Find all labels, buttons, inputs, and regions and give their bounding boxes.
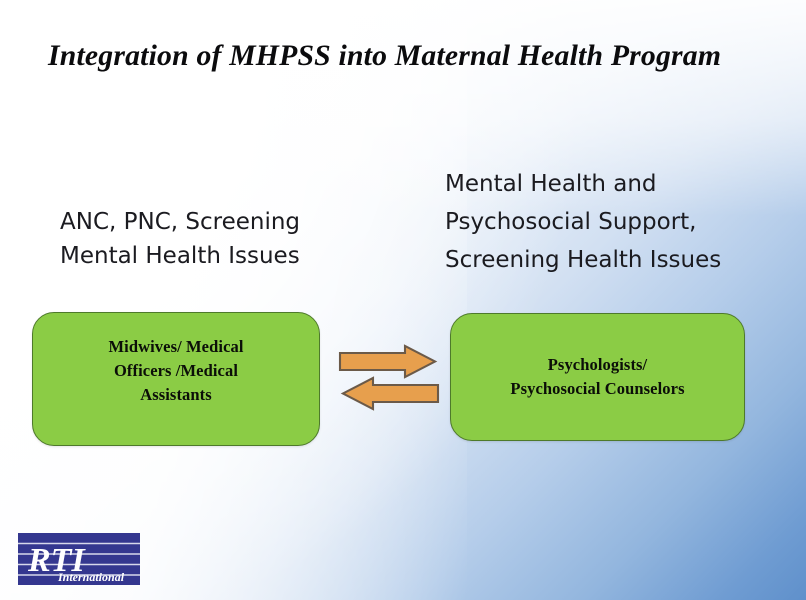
caption-left-line-2: Mental Health Issues xyxy=(60,239,390,273)
role-box-right-line-2: Psychosocial Counselors xyxy=(510,377,684,401)
caption-right-line-2: Psychosocial Support, xyxy=(445,203,775,241)
bidirectional-arrow-group xyxy=(337,344,441,412)
role-box-left-line-1: Midwives/ Medical xyxy=(108,335,243,359)
slide-canvas: Integration of MHPSS into Maternal Healt… xyxy=(0,0,806,600)
caption-left: ANC, PNC, Screening Mental Health Issues xyxy=(60,205,390,273)
arrow-left-icon xyxy=(343,378,438,409)
arrow-right-icon xyxy=(340,346,435,377)
caption-right: Mental Health and Psychosocial Support, … xyxy=(445,165,775,279)
role-box-left-line-2: Officers /Medical xyxy=(108,359,243,383)
role-box-left-line-3: Assistants xyxy=(108,383,243,407)
role-box-health-workers[interactable]: Midwives/ Medical Officers /Medical Assi… xyxy=(32,312,320,446)
role-box-right-line-1: Psychologists/ xyxy=(510,353,684,377)
page-title: Integration of MHPSS into Maternal Healt… xyxy=(48,38,761,74)
caption-right-line-1: Mental Health and xyxy=(445,165,775,203)
caption-right-line-3: Screening Health Issues xyxy=(445,241,775,279)
role-box-psychosocial-staff[interactable]: Psychologists/ Psychosocial Counselors xyxy=(450,313,745,441)
caption-left-line-1: ANC, PNC, Screening xyxy=(60,205,390,239)
rti-international-logo: RTI International xyxy=(18,533,140,585)
role-box-health-workers-text: Midwives/ Medical Officers /Medical Assi… xyxy=(98,335,253,407)
role-box-psychosocial-staff-text: Psychologists/ Psychosocial Counselors xyxy=(500,353,694,401)
logo-wordmark-text: International xyxy=(57,570,125,584)
